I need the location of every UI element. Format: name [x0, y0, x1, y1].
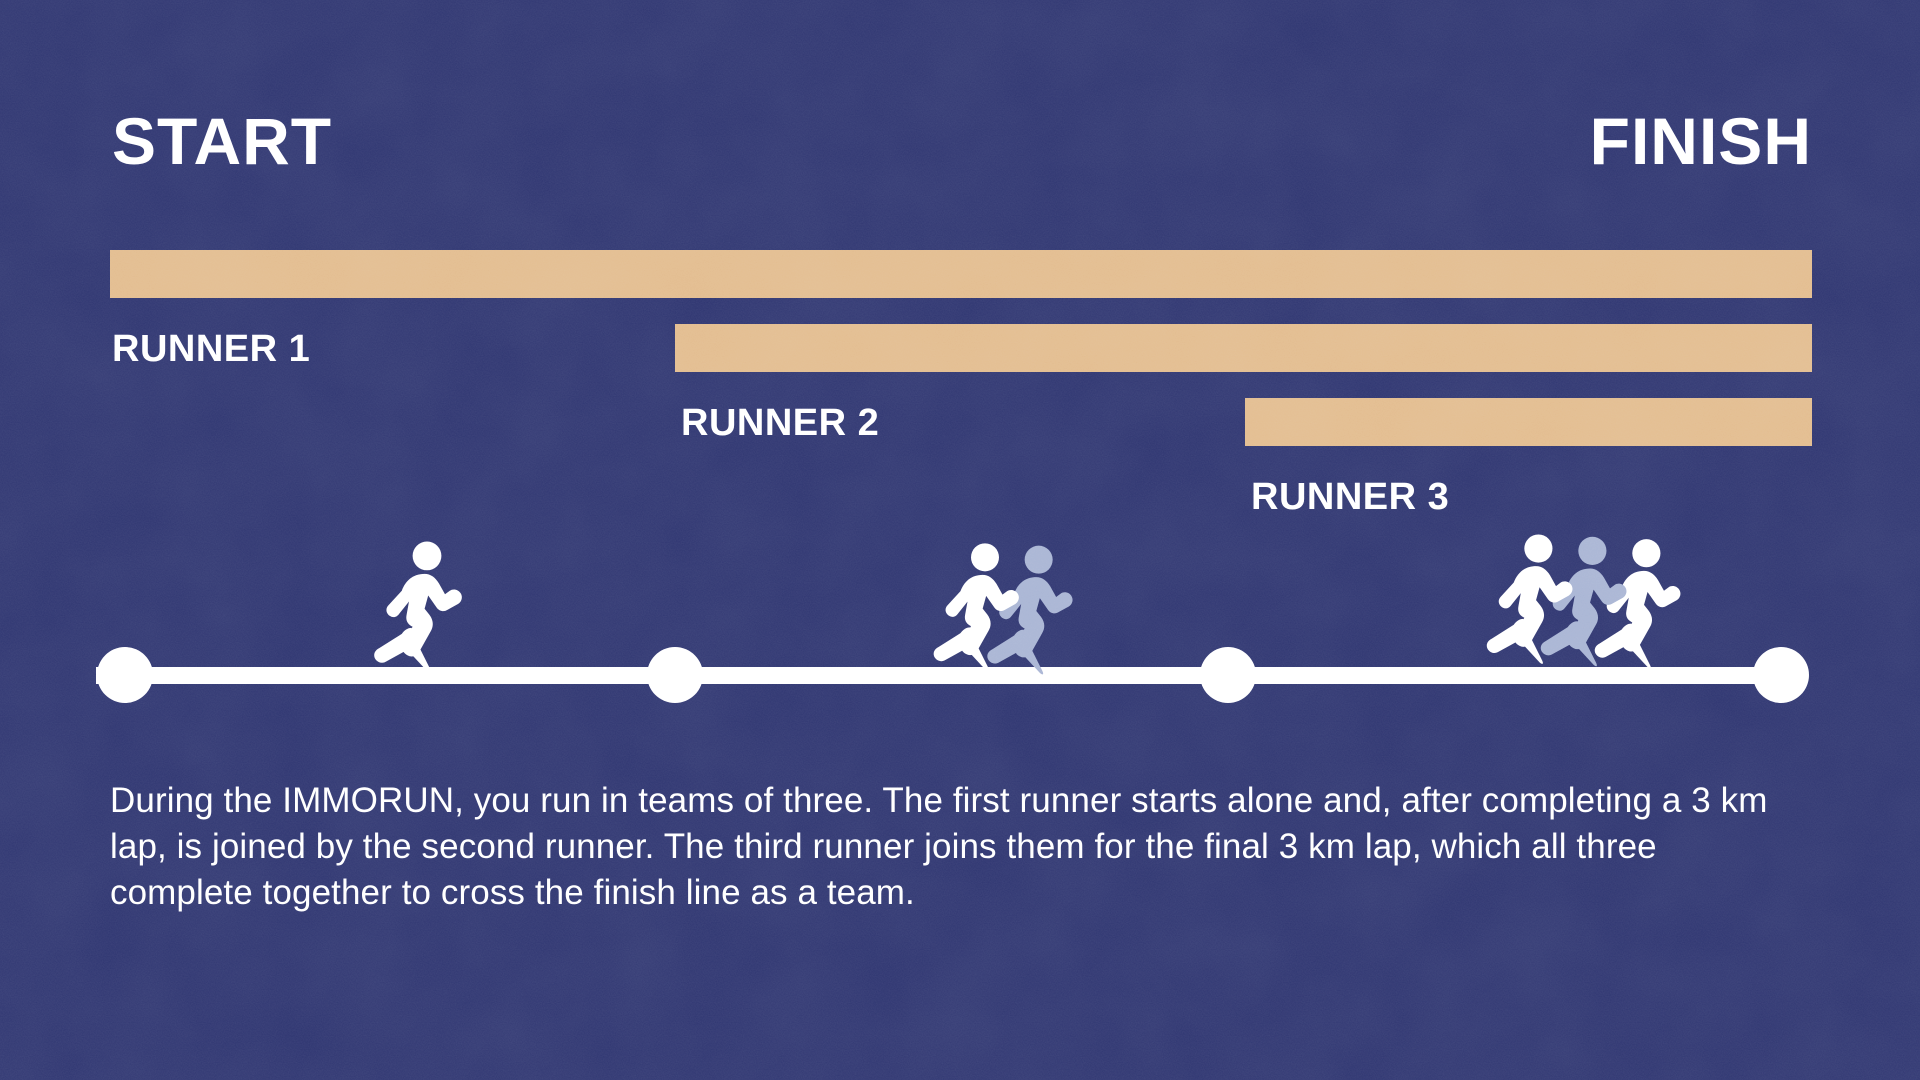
timeline-node-finish	[1753, 647, 1809, 703]
infographic-canvas: START FINISH RUNNER 1 RUNNER 2 RUNNER 3	[0, 0, 1920, 1080]
runner-3-label: RUNNER 3	[1251, 478, 1449, 516]
runner-3-bar	[1245, 398, 1812, 446]
runner-1-label: RUNNER 1	[112, 330, 310, 368]
runner-icon	[374, 542, 462, 674]
runner-2-bar	[675, 324, 1812, 372]
timeline-node-6km	[1200, 647, 1256, 703]
timeline-node-start	[97, 647, 153, 703]
runner-1-bar	[110, 250, 1812, 298]
description-text: During the IMMORUN, you run in teams of …	[110, 778, 1790, 917]
finish-label: FINISH	[1590, 108, 1812, 174]
runner-2-label: RUNNER 2	[681, 404, 879, 442]
start-label: START	[112, 108, 332, 174]
timeline-node-3km	[647, 647, 703, 703]
